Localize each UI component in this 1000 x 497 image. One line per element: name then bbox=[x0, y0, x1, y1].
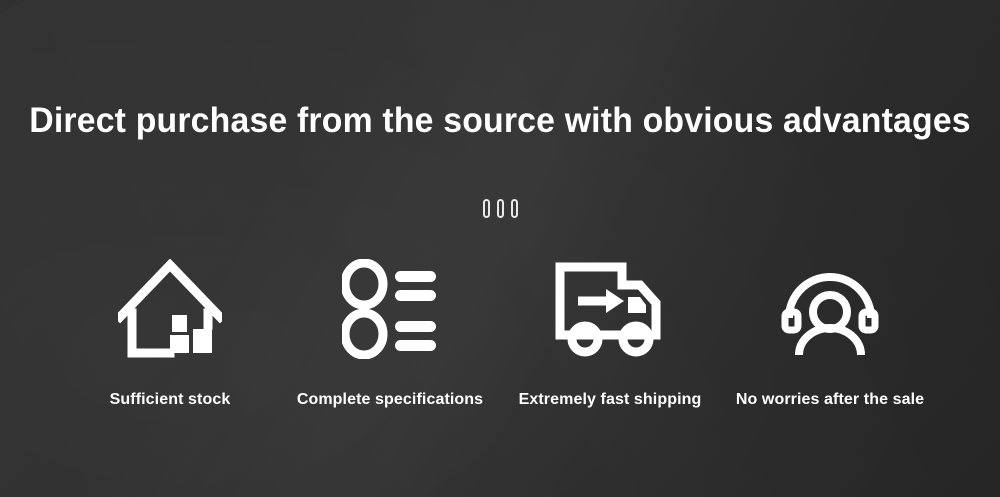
feature-label: Complete specifications bbox=[297, 391, 483, 409]
promo-banner: Direct purchase from the source with obv… bbox=[0, 0, 1000, 497]
page-title: Direct purchase from the source with obv… bbox=[18, 101, 983, 141]
divider-pill-3 bbox=[511, 199, 518, 218]
feature-item-complete-specifications: Complete specifications bbox=[280, 255, 500, 409]
feature-label: Sufficient stock bbox=[110, 391, 231, 409]
divider-pill-2 bbox=[497, 199, 504, 218]
feature-label: No worries after the sale bbox=[736, 391, 924, 409]
feature-item-fast-shipping: Extremely fast shipping bbox=[500, 255, 720, 409]
feature-label: Extremely fast shipping bbox=[519, 391, 702, 409]
warehouse-stock-icon bbox=[118, 255, 222, 363]
feature-list: Sufficient stock Complete specifications bbox=[60, 255, 940, 409]
feature-item-after-sale-support: No worries after the sale bbox=[720, 255, 940, 409]
delivery-truck-icon bbox=[554, 255, 666, 363]
divider-pill-1 bbox=[483, 199, 490, 218]
feature-item-sufficient-stock: Sufficient stock bbox=[60, 255, 280, 409]
background-sheen bbox=[0, 0, 1000, 497]
headset-support-icon bbox=[780, 255, 880, 363]
specification-list-icon bbox=[342, 255, 438, 363]
three-pill-divider bbox=[0, 199, 1000, 218]
